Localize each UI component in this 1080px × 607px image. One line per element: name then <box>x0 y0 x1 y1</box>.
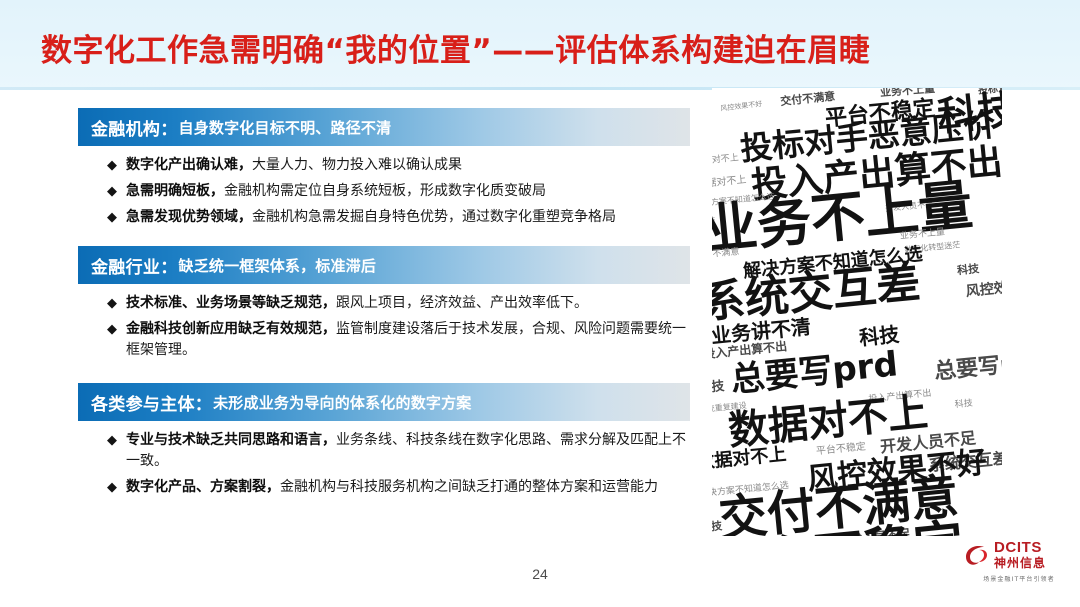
logo-chinese: 神州信息 <box>994 557 1046 569</box>
word-cloud-term: 交付不满意 <box>780 91 836 107</box>
list-item: ◆ 数字化产品、方案割裂，金融机构与科技服务机构之间缺乏打通的整体方案和运营能力 <box>78 477 690 498</box>
word-cloud-image: 交付不满意业务不上量投标对手恶意压价风控效果不好科技平台不稳定科技投标对手恶意压… <box>712 88 1002 536</box>
list-item-text: 金融科技创新应用缺乏有效规范，监管制度建设落后于技术发展，合规、风险问题需要统一… <box>126 319 690 361</box>
section-header-1-rest: 自身数字化目标不明、路径不清 <box>179 117 392 138</box>
section-spacer <box>78 233 690 246</box>
list-item: ◆ 技术标准、业务场景等缺乏规范，跟风上项目，经济效益、产出效率低下。 <box>78 293 690 314</box>
section-header-3: 各类参与主体： 未形成业务为导向的体系化的数字方案 <box>78 383 690 421</box>
list-item-text: 急需明确短板，金融机构需定位自身系统短板，形成数字化质变破局 <box>126 181 690 202</box>
list-item-rest: 大量人力、物力投入难以确认成果 <box>252 157 462 173</box>
list-item-lead: 数字化产品、方案割裂， <box>126 479 280 495</box>
word-cloud-term: 数据对不上 <box>712 176 747 191</box>
word-cloud-term: 科技 <box>712 520 723 533</box>
section-header-1-strong: 金融机构： <box>91 115 178 140</box>
section-header-2: 金融行业： 缺乏统一框架体系，标准滞后 <box>78 246 690 284</box>
diamond-bullet-icon: ◆ <box>107 293 126 314</box>
diamond-bullet-icon: ◆ <box>107 477 126 498</box>
list-item-text: 急需发现优势领域，金融机构急需发掘自身特色优势，通过数字化重塑竞争格局 <box>126 207 690 228</box>
diamond-bullet-icon: ◆ <box>107 319 126 340</box>
word-cloud-term: 科技 <box>712 380 725 395</box>
bullet-list-3: ◆ 专业与技术缺乏共同思路和语言，业务条线、科技条线在数字化思路、需求分解及匹配… <box>78 421 690 498</box>
bullet-list-2: ◆ 技术标准、业务场景等缺乏规范，跟风上项目，经济效益、产出效率低下。 ◆ 金融… <box>78 284 690 361</box>
word-cloud-term: 风控效果不好 <box>965 277 1002 299</box>
bullet-list-1: ◆ 数字化产出确认难，大量人力、物力投入难以确认成果 ◆ 急需明确短板，金融机构… <box>78 146 690 228</box>
list-item-rest: 金融机构与科技服务机构之间缺乏打通的整体方案和运营能力 <box>280 479 658 495</box>
list-item: ◆ 金融科技创新应用缺乏有效规范，监管制度建设落后于技术发展，合规、风险问题需要… <box>78 319 690 361</box>
section-header-2-rest: 缺乏统一框架体系，标准滞后 <box>179 255 377 276</box>
slide-root: 数字化工作急需明确“我的位置”——评估体系构建迫在眉睫 金融机构： 自身数字化目… <box>0 0 1080 607</box>
logo-tagline: 场景金融IT平台引领者 <box>963 574 1075 583</box>
list-item-text: 专业与技术缺乏共同思路和语言，业务条线、科技条线在数字化思路、需求分解及匹配上不… <box>126 430 690 472</box>
list-item-rest: 跟风上项目，经济效益、产出效率低下。 <box>336 295 588 311</box>
section-header-2-strong: 金融行业： <box>91 253 178 278</box>
diamond-bullet-icon: ◆ <box>107 430 126 451</box>
list-item-lead: 急需发现优势领域， <box>126 209 252 225</box>
diamond-bullet-icon: ◆ <box>107 155 126 176</box>
diamond-bullet-icon: ◆ <box>107 207 126 228</box>
section-spacer <box>78 366 690 383</box>
list-item-rest: 金融机构急需发掘自身特色优势，通过数字化重塑竞争格局 <box>252 209 616 225</box>
word-cloud-term: 总要写prd <box>933 351 1002 383</box>
list-item-text: 数字化产出确认难，大量人力、物力投入难以确认成果 <box>126 155 690 176</box>
word-cloud-canvas: 交付不满意业务不上量投标对手恶意压价风控效果不好科技平台不稳定科技投标对手恶意压… <box>712 88 1002 536</box>
word-cloud-term: 风控效果不好 <box>720 101 763 113</box>
list-item-lead: 金融科技创新应用缺乏有效规范， <box>126 321 336 337</box>
content-column: 金融机构： 自身数字化目标不明、路径不清 ◆ 数字化产出确认难，大量人力、物力投… <box>78 108 690 503</box>
list-item-lead: 急需明确短板， <box>126 183 224 199</box>
logo-english: DCITS <box>994 540 1046 555</box>
list-item-lead: 专业与技术缺乏共同思路和语言， <box>126 432 336 448</box>
list-item: ◆ 急需发现优势领域，金融机构急需发掘自身特色优势，通过数字化重塑竞争格局 <box>78 207 690 228</box>
word-cloud-term: 数据对不上 <box>712 154 739 167</box>
section-header-1: 金融机构： 自身数字化目标不明、路径不清 <box>78 108 690 146</box>
list-item: ◆ 急需明确短板，金融机构需定位自身系统短板，形成数字化质变破局 <box>78 181 690 202</box>
list-item: ◆ 数字化产出确认难，大量人力、物力投入难以确认成果 <box>78 155 690 176</box>
list-item: ◆ 专业与技术缺乏共同思路和语言，业务条线、科技条线在数字化思路、需求分解及匹配… <box>78 430 690 472</box>
logo-wordmark: DCITS 神州信息 <box>994 540 1046 569</box>
section-header-3-strong: 各类参与主体： <box>91 390 212 415</box>
word-cloud-term: 数据对不上 <box>712 446 787 473</box>
word-cloud-term: 平台不稳定 <box>816 442 867 457</box>
company-logo: DCITS 神州信息 场景金融IT平台引领者 <box>963 540 1075 596</box>
word-cloud-term: 科技 <box>957 263 980 276</box>
list-item-text: 数字化产品、方案割裂，金融机构与科技服务机构之间缺乏打通的整体方案和运营能力 <box>126 477 690 498</box>
list-item-lead: 数字化产出确认难， <box>126 157 252 173</box>
section-header-3-rest: 未形成业务为导向的体系化的数字方案 <box>213 392 471 413</box>
page-number: 24 <box>0 566 1080 582</box>
dcits-swoosh-icon <box>963 543 989 567</box>
page-title: 数字化工作急需明确“我的位置”——评估体系构建迫在眉睫 <box>41 25 870 70</box>
list-item-text: 技术标准、业务场景等缺乏规范，跟风上项目，经济效益、产出效率低下。 <box>126 293 690 314</box>
logo-primary-row: DCITS 神州信息 <box>963 540 1075 569</box>
list-item-lead: 技术标准、业务场景等缺乏规范， <box>126 295 336 311</box>
list-item-rest: 金融机构需定位自身系统短板，形成数字化质变破局 <box>224 183 546 199</box>
diamond-bullet-icon: ◆ <box>107 181 126 202</box>
word-cloud-term: 科技 <box>954 400 973 411</box>
